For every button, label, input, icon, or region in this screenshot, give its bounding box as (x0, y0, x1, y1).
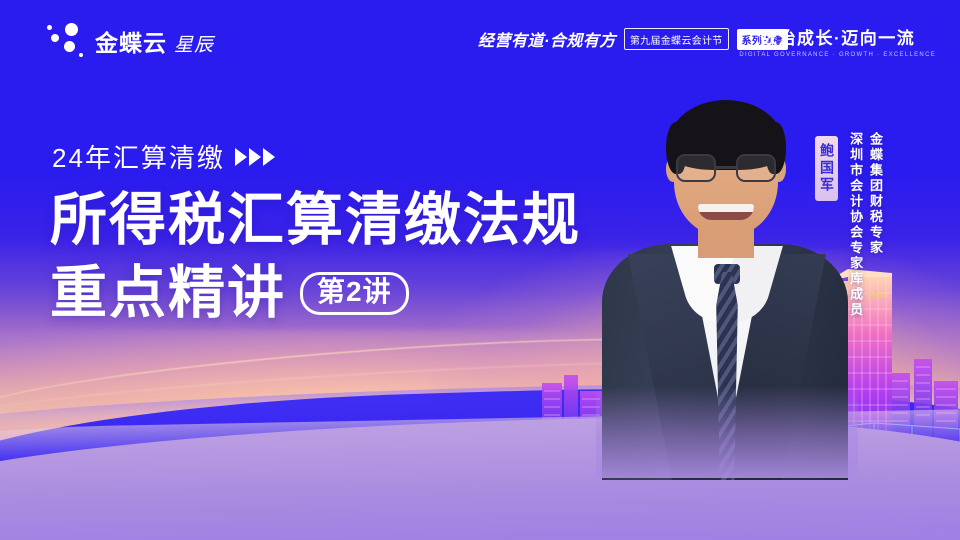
poster-header: 金蝶云 星辰 经营有道·合规有方 第九届金蝶云会计节 系列直播 数治成长·迈向一… (0, 0, 960, 76)
triple-play-arrow-icon (235, 148, 275, 166)
speaker-name-badge: 鲍国军 (815, 136, 838, 201)
page-title-line2: 重点精讲 (50, 265, 286, 322)
page-title-line1: 所得税汇算清缴法规 (50, 192, 581, 249)
campaign-tagline-group: 数治成长·迈向一流 DIGITAL GOVERNANCE · GROWTH · … (739, 24, 936, 58)
speaker-credentials: 深圳市会计协会专家库成员 金蝶集团财税专家 (847, 132, 882, 318)
page-title-line2-group: 重点精讲 第2讲 (50, 265, 409, 322)
brand-logo: 金蝶云 星辰 (46, 22, 214, 60)
speaker-credential-2: 深圳市会计协会专家库成员 (847, 132, 862, 318)
eyebrow-group: 24年汇算清缴 (52, 138, 275, 175)
eyebrow-text: 24年汇算清缴 (52, 138, 225, 175)
speaker-credential-1: 金蝶集团财税专家 (867, 132, 882, 256)
brand-logo-main: 金蝶云 (95, 24, 167, 58)
event-name-badge: 第九届金蝶云会计节 (624, 28, 729, 50)
eyeglasses-icon (676, 154, 776, 182)
campaign-tagline-en: DIGITAL GOVERNANCE · GROWTH · EXCELLENCE (739, 52, 936, 58)
brand-logo-sub: 星辰 (174, 30, 214, 57)
lesson-number-badge: 第2讲 (300, 272, 409, 315)
speaker-portrait (606, 104, 842, 476)
dots-constellation-icon (46, 22, 86, 60)
campaign-tagline: 数治成长·迈向一流 (739, 24, 936, 49)
live-stream-poster: 金蝶云 深圳市会计协会专家库成员 金蝶集团财税专家 鲍国军 金蝶云 星辰 经营有… (0, 0, 960, 540)
event-slogan: 经营有道·合规有方 (478, 27, 616, 51)
